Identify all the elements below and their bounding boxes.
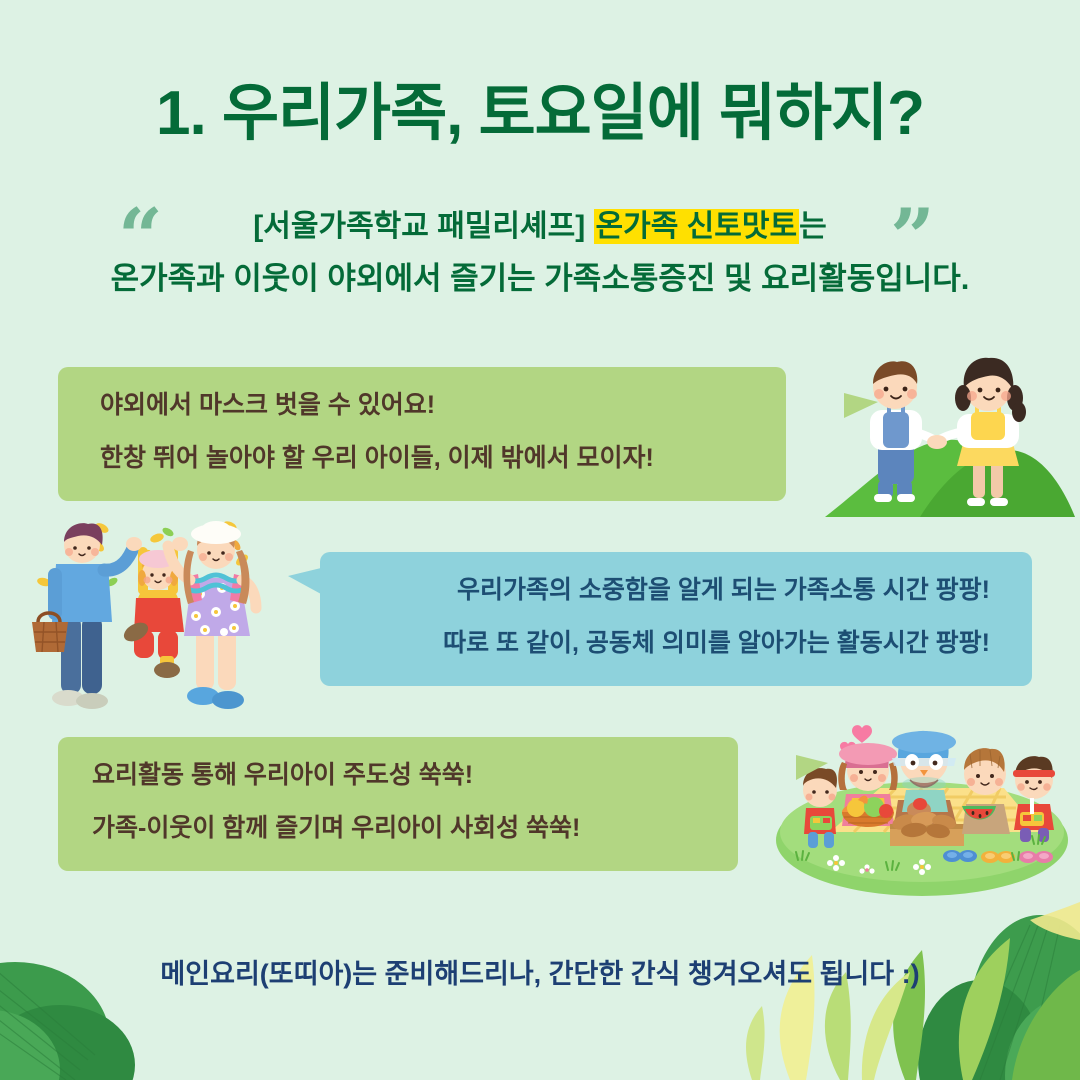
speech-bubble-2: 우리가족의 소중함을 알게 되는 가족소통 시간 팡팡! 따로 또 같이, 공동… — [320, 552, 1032, 686]
quote-open-icon: “ — [118, 199, 163, 277]
speech-bubble-3: 요리활동 통해 우리아이 주도성 쑥쑥! 가족-이웃이 함께 즐기며 우리아이 … — [58, 737, 738, 871]
page-title: 1. 우리가족, 토요일에 뭐하지? — [0, 78, 1080, 149]
bubble-1-line-2: 한창 뛰어 놀아야 할 우리 아이들, 이제 밖에서 모이자! — [100, 446, 786, 471]
bubble-1-line-1: 야외에서 마스크 벗을 수 있어요! — [100, 393, 786, 418]
bubble-2-line-2: 따로 또 같이, 공동체 의미를 알아가는 활동시간 팡팡! — [320, 631, 990, 656]
lead-prefix: [서울가족학교 패밀리셰프] — [253, 210, 593, 243]
poster-canvas: 1. 우리가족, 토요일에 뭐하지? “ ” [서울가족학교 패밀리셰프] 온가… — [0, 0, 1080, 1080]
bubble-2-line-1: 우리가족의 소중함을 알게 되는 가족소통 시간 팡팡! — [320, 578, 990, 603]
lead-suffix: 는 — [799, 210, 827, 243]
bubble-tail-left — [288, 568, 321, 594]
lead-quote-block: “ ” [서울가족학교 패밀리셰프] 온가족 신토맛토는 온가족과 이웃이 야외… — [0, 205, 1080, 301]
lead-highlight: 온가족 신토맛토 — [594, 209, 800, 244]
bubble-3-line-2: 가족-이웃이 함께 즐기며 우리아이 사회성 쑥쑥! — [92, 816, 738, 841]
speech-bubble-1: 야외에서 마스크 벗을 수 있어요! 한창 뛰어 놀아야 할 우리 아이들, 이… — [58, 367, 786, 501]
illustration-family-walking — [30, 512, 290, 712]
footnote-text: 메인요리(또띠아)는 준비해드리나, 간단한 간식 챙겨오셔도 됩니다 :) — [0, 952, 1080, 991]
held-hands-left — [126, 537, 142, 551]
held-hands — [927, 435, 947, 449]
bubble-3-line-1: 요리활동 통해 우리아이 주도성 쑥쑥! — [92, 763, 738, 788]
illustration-picnic-group — [772, 712, 1072, 902]
father-figure — [32, 523, 134, 709]
quote-close-icon: ” — [890, 199, 935, 277]
held-hands-right — [172, 537, 188, 551]
bubble-tail-right — [796, 755, 828, 780]
illustration-two-children — [825, 332, 1075, 517]
bubble-tail-right — [844, 393, 878, 418]
